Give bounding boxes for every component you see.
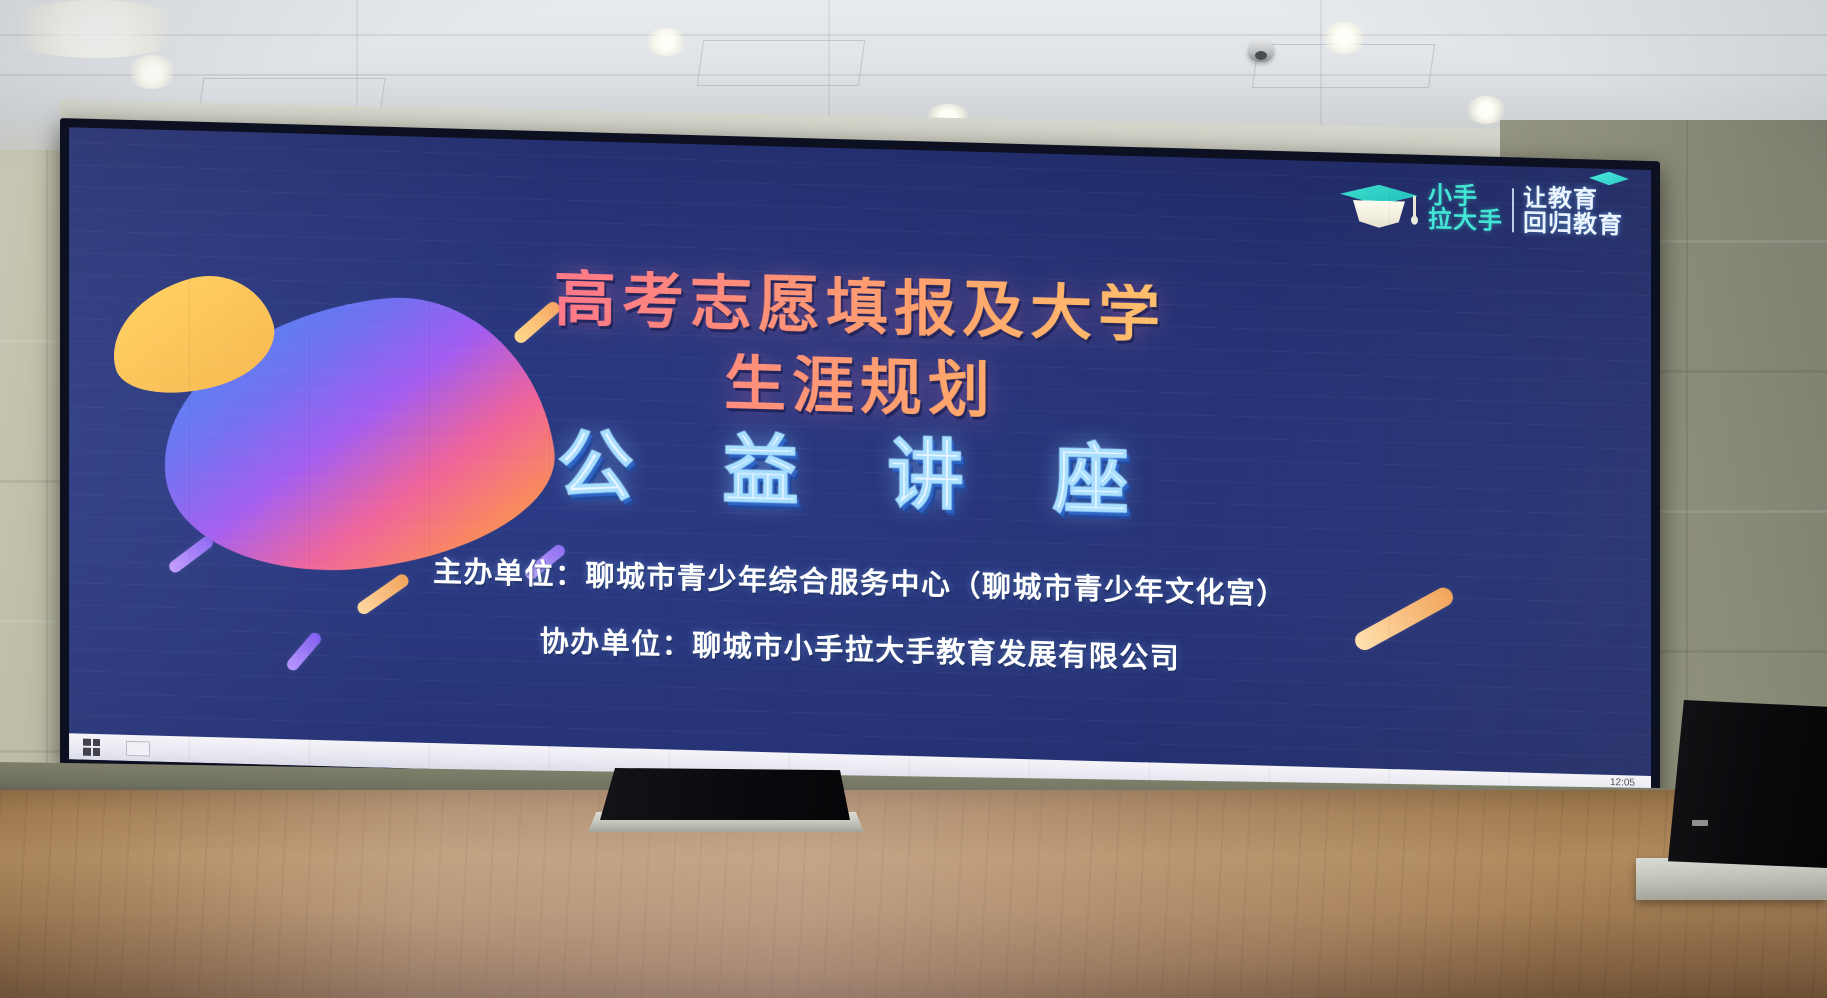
ceiling-spotlight	[1322, 22, 1366, 54]
ceiling-light-glare	[0, 0, 190, 58]
led-wall-screen: 小手 拉大手 让教育 回归教育 高考志愿填报及大学 生涯规划 公 益 讲 座 主…	[69, 127, 1651, 802]
ceiling-camera-icon	[1248, 40, 1274, 62]
graduation-cap-icon	[1340, 180, 1418, 234]
floor-standing-speaker	[1668, 700, 1827, 868]
ceiling-seam	[0, 74, 1827, 76]
logo-left-text: 小手 拉大手	[1428, 184, 1503, 234]
logo-right-line-2: 回归教育	[1523, 211, 1623, 239]
logo-right-text: 让教育 回归教育	[1523, 185, 1623, 238]
poster-host-organization: 主办单位：聊城市青少年综合服务中心（聊城市青少年文化宫）	[69, 538, 1651, 623]
taskbar-window-icon[interactable]	[126, 740, 150, 756]
stage-monitor-speaker	[600, 768, 850, 820]
logo-divider	[1512, 188, 1514, 232]
wood-floor-reflection	[0, 790, 1827, 998]
photo-scene: 小手 拉大手 让教育 回归教育 高考志愿填报及大学 生涯规划 公 益 讲 座 主…	[0, 0, 1827, 998]
ceiling-spotlight	[128, 55, 176, 89]
ceiling-spotlight	[645, 28, 687, 56]
graduation-cap-small-icon	[1589, 171, 1629, 187]
brand-logo: 小手 拉大手 让教育 回归教育	[1340, 180, 1623, 240]
ceiling-panel	[697, 40, 865, 86]
windows-start-icon[interactable]	[83, 738, 100, 755]
led-video-wall[interactable]: 小手 拉大手 让教育 回归教育 高考志愿填报及大学 生涯规划 公 益 讲 座 主…	[60, 118, 1660, 811]
logo-left-line-2: 拉大手	[1428, 208, 1503, 234]
ceiling-seam	[0, 34, 1827, 36]
